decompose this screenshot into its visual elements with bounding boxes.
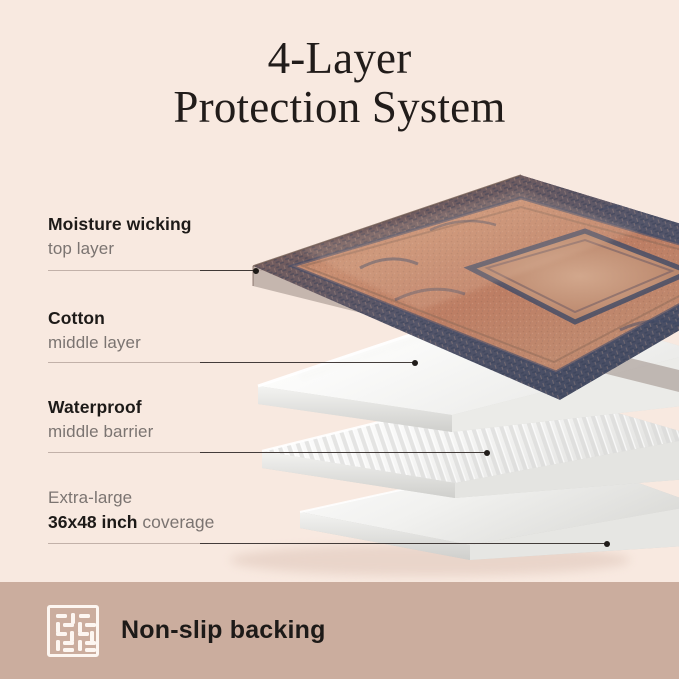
coverage-size-value: 36x48 inch	[48, 512, 138, 532]
stack-layer-rug	[253, 175, 679, 400]
label-cotton: Cotton middle layer	[48, 308, 348, 354]
leader-line-1	[200, 270, 256, 271]
label-subtitle: top layer	[48, 238, 348, 260]
label-title: Moisture wicking	[48, 214, 348, 236]
coverage-size-prefix: Extra-large	[48, 487, 348, 509]
leader-dot-4	[604, 541, 610, 547]
label-rule-2	[48, 362, 208, 363]
product-infographic: 4-Layer Protection System	[0, 0, 679, 679]
leader-dot-1	[253, 268, 259, 274]
leader-dot-2	[412, 360, 418, 366]
coverage-size-line: 36x48 inch coverage	[48, 511, 348, 534]
page-title: 4-Layer Protection System	[0, 34, 679, 131]
label-title: Waterproof	[48, 397, 348, 419]
label-moisture-wicking: Moisture wicking top layer	[48, 214, 348, 260]
label-rule-4	[48, 543, 208, 544]
non-slip-banner: Non-slip backing	[0, 582, 679, 679]
label-waterproof: Waterproof middle barrier	[48, 397, 348, 443]
leader-line-4	[200, 543, 607, 544]
label-title: Cotton	[48, 308, 348, 330]
label-subtitle: middle layer	[48, 332, 348, 354]
label-rule-3	[48, 452, 208, 453]
label-coverage: Extra-large 36x48 inch coverage	[48, 487, 348, 534]
label-subtitle: middle barrier	[48, 421, 348, 443]
title-line-2: Protection System	[0, 83, 679, 132]
leader-line-2	[200, 362, 415, 363]
leader-dot-3	[484, 450, 490, 456]
non-slip-grip-pattern-icon	[47, 605, 99, 657]
title-line-1: 4-Layer	[0, 34, 679, 83]
leader-line-3	[200, 452, 487, 453]
coverage-size-suffix: coverage	[138, 512, 215, 532]
non-slip-label: Non-slip backing	[121, 616, 326, 645]
